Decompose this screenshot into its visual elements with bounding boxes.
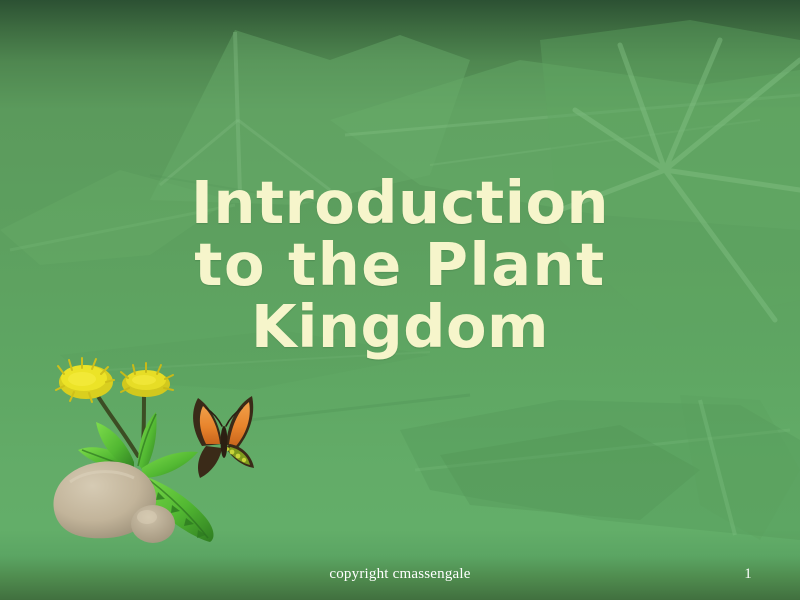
dandelion-flower	[56, 358, 114, 402]
copyright-text: copyright cmassengale	[0, 566, 800, 583]
presentation-slide: Introduction to the Plant Kingdom	[0, 0, 800, 600]
dandelion-rock-butterfly-clipart	[34, 352, 264, 552]
title-line-1: Introduction	[0, 172, 800, 234]
slide-footer: copyright cmassengale 1	[0, 556, 800, 600]
slide-title: Introduction to the Plant Kingdom	[0, 172, 800, 358]
slide-number: 1	[724, 566, 772, 583]
butterfly	[193, 396, 254, 478]
title-line-2: to the Plant	[0, 234, 800, 296]
dandelion-flower	[121, 363, 173, 397]
pebble	[131, 505, 175, 543]
title-line-3: Kingdom	[0, 296, 800, 358]
